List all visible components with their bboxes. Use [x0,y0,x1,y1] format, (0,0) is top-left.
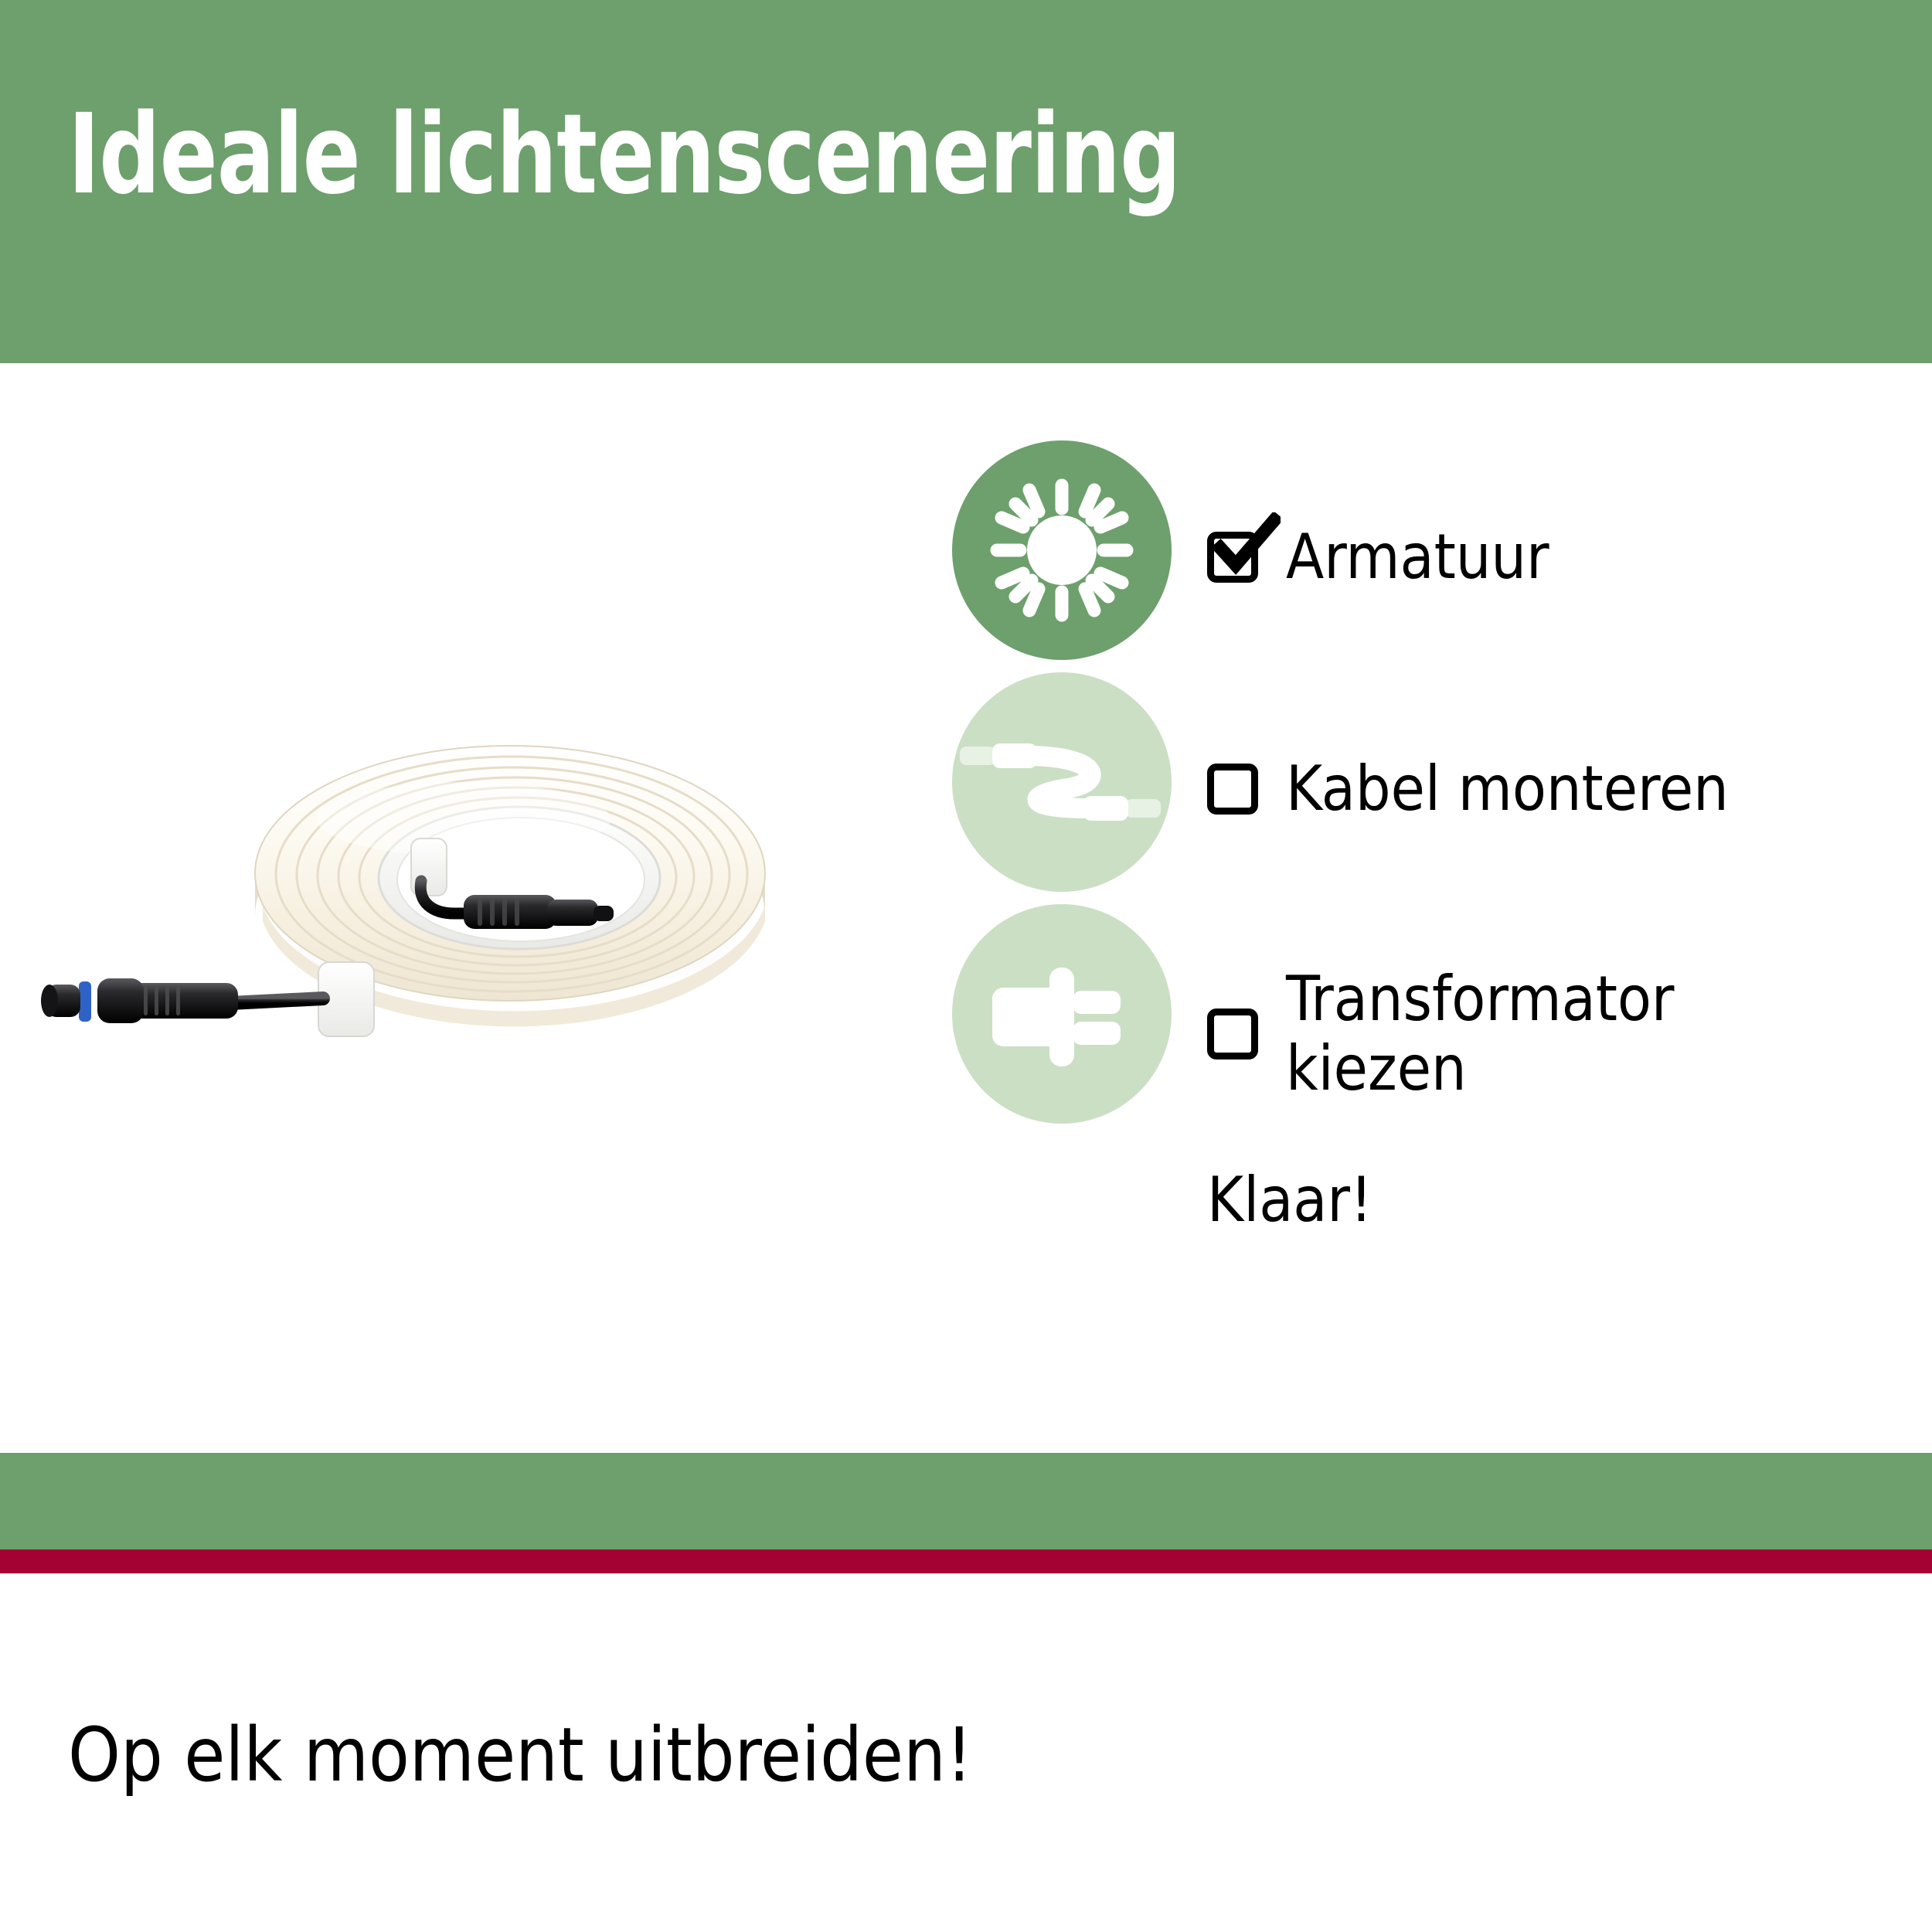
step-label-wrap-2[interactable]: Kabel monteren [1207,754,1729,824]
done-text: Klaar! [1207,1164,1372,1236]
checkbox-transformator-kiezen[interactable] [1207,1009,1258,1060]
step-row-armatuur[interactable]: Armatuur [952,440,1879,672]
sun-icon [952,440,1172,660]
poster-root: Ideale lichtenscenering [0,0,1932,1932]
step-icon-circle-1 [952,440,1172,660]
cable-segment-right [230,998,323,1003]
cable-icon [952,672,1172,892]
step-label-wrap-3[interactable]: Transformator kiezen [1207,964,1675,1103]
step-row-transformator[interactable]: Transformator kiezen [952,904,1879,1136]
connector-upper [464,895,614,929]
step-label-armatuur: Armatuur [1286,522,1549,592]
step-icon-circle-2 [952,672,1172,892]
connector-blue-ring [79,981,91,1022]
header-band: Ideale lichtenscenering [0,0,1932,363]
step-icon-circle-3 [952,904,1172,1124]
steps-list: Armatuur Kabel monteren [952,440,1879,1136]
checkbox-armatuur[interactable] [1207,532,1258,583]
footer-green-band [0,1453,1932,1549]
step-row-kabel[interactable]: Kabel monteren [952,672,1879,904]
plug-icon [952,904,1172,1124]
content-area: Armatuur Kabel monteren [0,363,1932,1453]
step-label-transformator-kiezen: Transformator kiezen [1286,964,1675,1103]
footer-caption: Op elk moment uitbreiden! [68,1712,972,1798]
checkmark-icon [1209,512,1281,583]
led-strip-illustration [31,696,896,1066]
step-label-wrap-1[interactable]: Armatuur [1207,522,1549,592]
checkbox-kabel-monteren[interactable] [1207,764,1258,815]
page-title: Ideale lichtenscenering [68,99,1180,209]
step-label-kabel-monteren: Kabel monteren [1286,754,1729,824]
product-image [31,696,896,1066]
footer-red-band [0,1549,1932,1573]
connector-lower [97,978,238,1023]
